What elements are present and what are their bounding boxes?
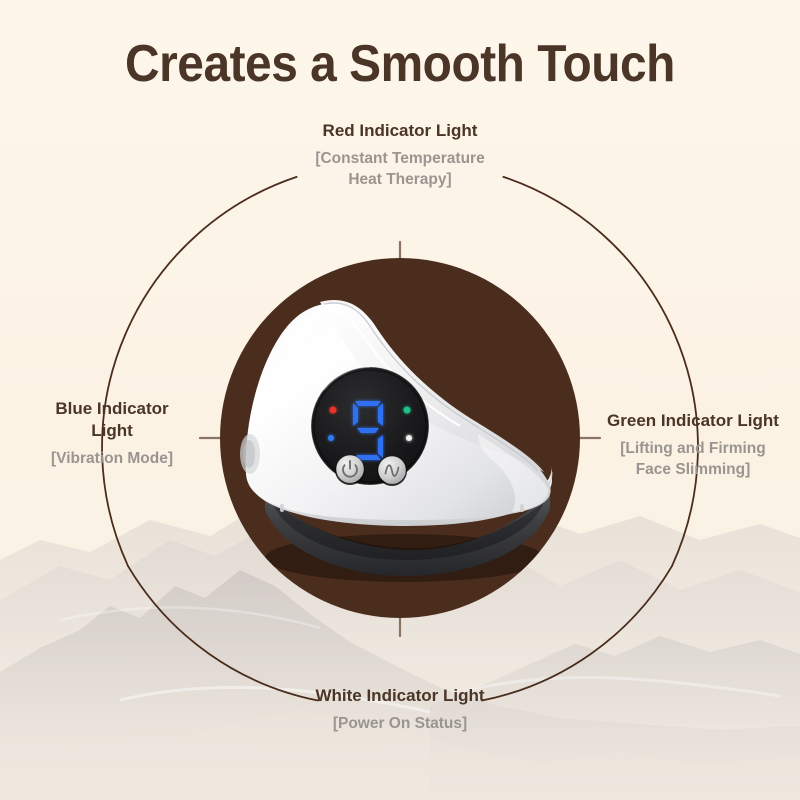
label-green-sub: [Lifting and Firming Face Slimming]: [590, 439, 796, 481]
label-red-indicator: Red Indicator Light [Constant Temperatur…: [0, 120, 800, 191]
label-blue-indicator: Blue Indicator Light [Vibration Mode]: [8, 398, 216, 470]
label-blue-heading: Blue Indicator Light: [8, 398, 216, 442]
blue-indicator-dot: [328, 435, 334, 441]
power-button: [335, 455, 365, 485]
green-indicator-dot: [404, 407, 411, 414]
white-indicator-dot: [406, 435, 412, 441]
label-green-indicator: Green Indicator Light [Lifting and Firmi…: [590, 410, 796, 481]
label-white-heading: White Indicator Light: [0, 685, 800, 707]
label-red-heading: Red Indicator Light: [0, 120, 800, 142]
mode-button: [377, 456, 407, 486]
label-white-sub: [Power On Status]: [0, 714, 800, 735]
product-device: [220, 258, 580, 618]
label-blue-sub: [Vibration Mode]: [8, 449, 216, 470]
label-white-indicator: White Indicator Light [Power On Status]: [0, 685, 800, 735]
infographic-canvas: Creates a Smooth Touch: [0, 0, 800, 800]
red-indicator-dot: [330, 407, 337, 414]
label-red-sub: [Constant Temperature Heat Therapy]: [0, 149, 800, 191]
label-green-heading: Green Indicator Light: [590, 410, 796, 432]
